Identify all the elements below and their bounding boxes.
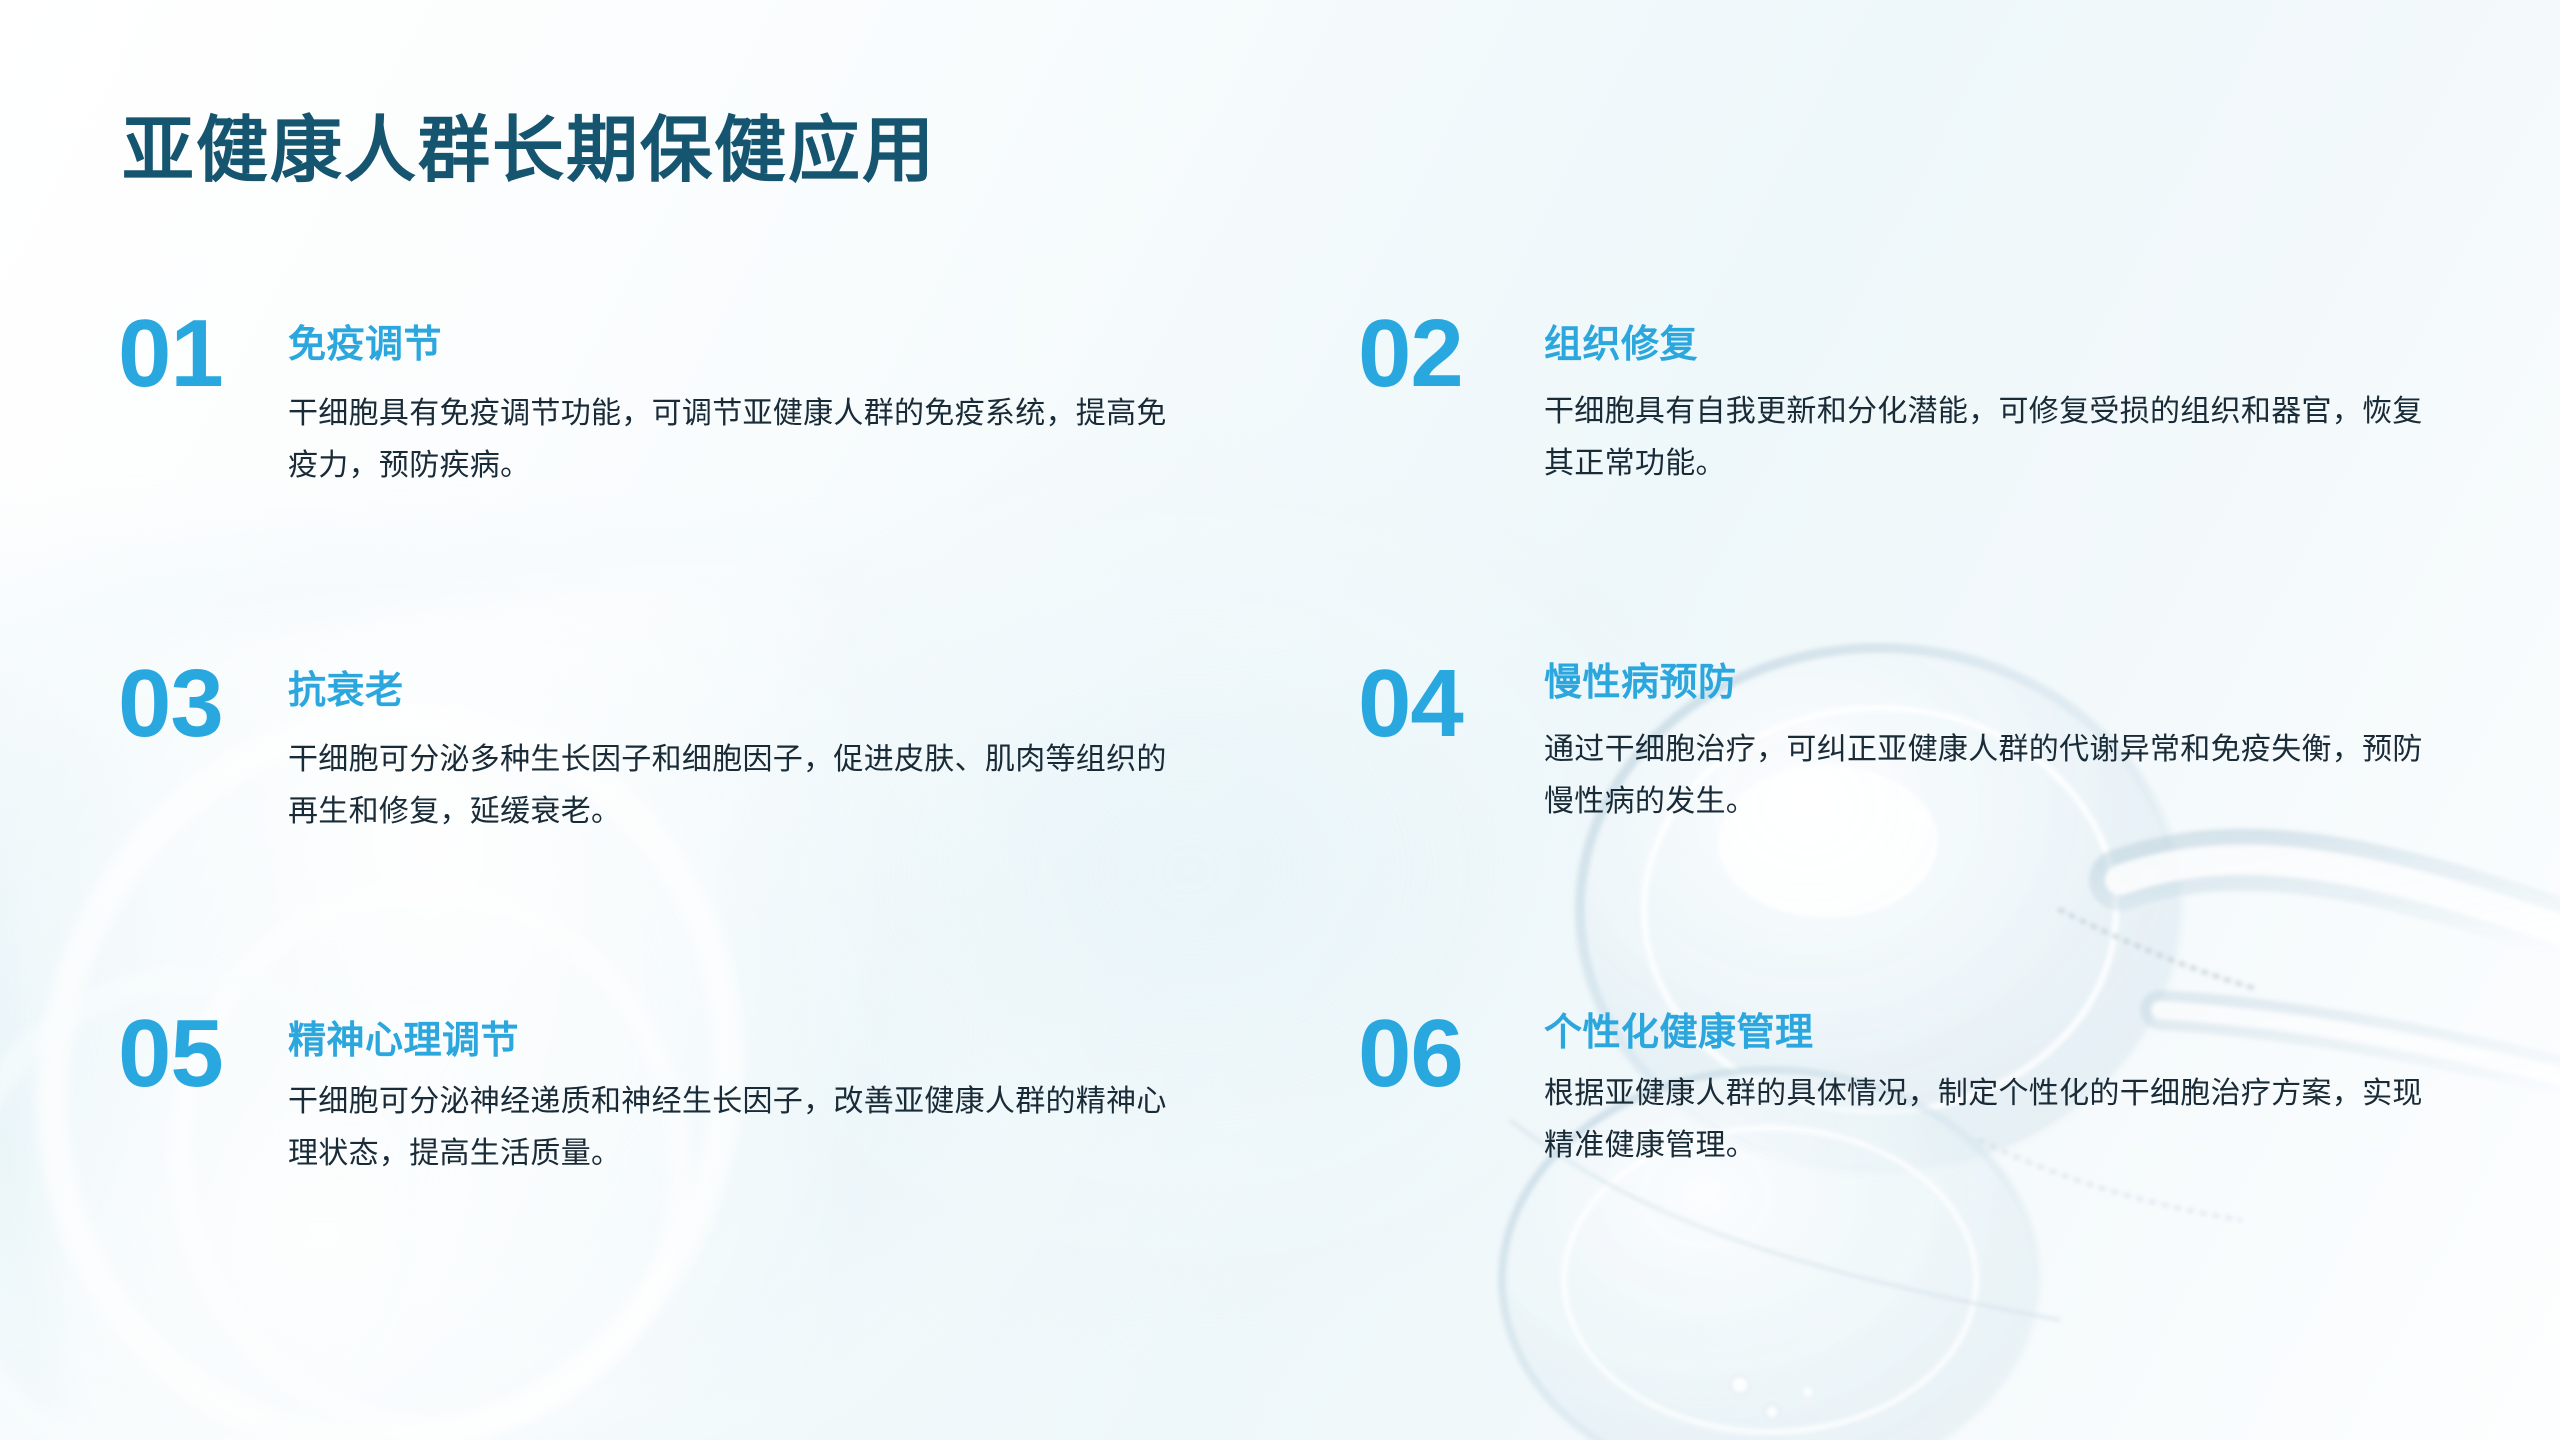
item-title: 慢性病预防 <box>1544 662 2560 706</box>
item-description: 干细胞具有免疫调节功能，可调节亚健康人群的免疫系统，提高免疫力，预防疾病。 <box>288 388 1188 493</box>
benefit-item-01[interactable]: 01 免疫调节 干细胞具有免疫调节功能，可调节亚健康人群的免疫系统，提高免疫力，… <box>118 306 1358 656</box>
benefit-item-06[interactable]: 06 个性化健康管理 根据亚健康人群的具体情况，制定个性化的干细胞治疗方案，实现… <box>1358 1006 2560 1356</box>
item-number: 03 <box>118 660 288 748</box>
item-number: 06 <box>1358 1010 1544 1098</box>
item-description: 干细胞可分泌神经递质和神经生长因子，改善亚健康人群的精神心理状态，提高生活质量。 <box>288 1076 1188 1181</box>
item-body: 慢性病预防 通过干细胞治疗，可纠正亚健康人群的代谢异常和免疫失衡，预防慢性病的发… <box>1544 656 2560 829</box>
item-body: 个性化健康管理 根据亚健康人群的具体情况，制定个性化的干细胞治疗方案，实现精准健… <box>1544 1006 2560 1173</box>
item-title: 个性化健康管理 <box>1544 1012 2560 1056</box>
benefits-grid: 01 免疫调节 干细胞具有免疫调节功能，可调节亚健康人群的免疫系统，提高免疫力，… <box>0 306 2560 1356</box>
item-description: 干细胞可分泌多种生长因子和细胞因子，促进皮肤、肌肉等组织的再生和修复，延缓衰老。 <box>288 734 1188 839</box>
item-description: 通过干细胞治疗，可纠正亚健康人群的代谢异常和免疫失衡，预防慢性病的发生。 <box>1544 724 2444 829</box>
page-title: 亚健康人群长期保健应用 <box>122 112 936 191</box>
benefit-item-04[interactable]: 04 慢性病预防 通过干细胞治疗，可纠正亚健康人群的代谢异常和免疫失衡，预防慢性… <box>1358 656 2560 1006</box>
item-number: 04 <box>1358 660 1544 748</box>
item-number: 02 <box>1358 310 1544 398</box>
benefit-item-05[interactable]: 05 精神心理调节 干细胞可分泌神经递质和神经生长因子，改善亚健康人群的精神心理… <box>118 1006 1358 1356</box>
item-title: 组织修复 <box>1544 324 2560 368</box>
item-body: 抗衰老 干细胞可分泌多种生长因子和细胞因子，促进皮肤、肌肉等组织的再生和修复，延… <box>288 656 1358 839</box>
slide-canvas: 亚健康人群长期保健应用 01 免疫调节 干细胞具有免疫调节功能，可调节亚健康人群… <box>0 0 2560 1440</box>
benefit-item-03[interactable]: 03 抗衰老 干细胞可分泌多种生长因子和细胞因子，促进皮肤、肌肉等组织的再生和修… <box>118 656 1358 1006</box>
item-number: 01 <box>118 310 288 398</box>
item-title: 免疫调节 <box>288 324 1358 368</box>
item-number: 05 <box>118 1010 288 1098</box>
item-title: 精神心理调节 <box>288 1020 1358 1064</box>
item-body: 精神心理调节 干细胞可分泌神经递质和神经生长因子，改善亚健康人群的精神心理状态，… <box>288 1006 1358 1181</box>
item-title: 抗衰老 <box>288 670 1358 714</box>
item-description: 根据亚健康人群的具体情况，制定个性化的干细胞治疗方案，实现精准健康管理。 <box>1544 1068 2444 1173</box>
item-description: 干细胞具有自我更新和分化潜能，可修复受损的组织和器官，恢复其正常功能。 <box>1544 386 2444 491</box>
item-body: 免疫调节 干细胞具有免疫调节功能，可调节亚健康人群的免疫系统，提高免疫力，预防疾… <box>288 306 1358 493</box>
benefit-item-02[interactable]: 02 组织修复 干细胞具有自我更新和分化潜能，可修复受损的组织和器官，恢复其正常… <box>1358 306 2560 656</box>
item-body: 组织修复 干细胞具有自我更新和分化潜能，可修复受损的组织和器官，恢复其正常功能。 <box>1544 306 2560 491</box>
